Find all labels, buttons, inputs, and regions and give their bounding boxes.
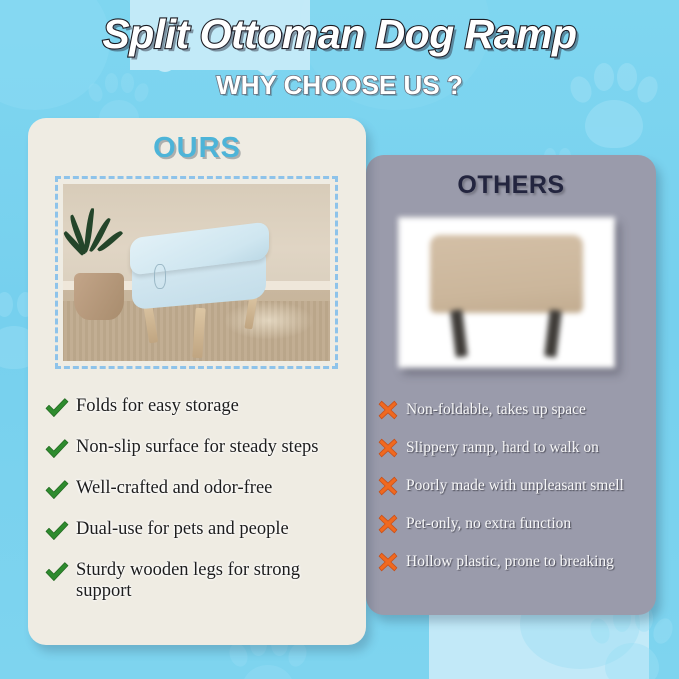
list-item: Poorly made with unpleasant smell <box>376 474 648 498</box>
list-item: Non-foldable, takes up space <box>376 398 648 422</box>
list-item: Non-slip surface for steady steps <box>44 437 352 461</box>
cross-icon <box>376 436 400 460</box>
infographic-canvas: Split Ottoman Dog Ramp WHY CHOOSE US ? O… <box>0 0 679 679</box>
list-item: Pet-only, no extra function <box>376 512 648 536</box>
list-item-label: Folds for easy storage <box>76 396 239 417</box>
list-item-label: Non-slip surface for steady steps <box>76 437 319 458</box>
cross-icon <box>376 474 400 498</box>
ours-photo-frame <box>55 176 338 369</box>
ours-panel: OURS <box>28 118 366 645</box>
list-item-label: Well-crafted and odor-free <box>76 478 272 499</box>
list-item-label: Non-foldable, takes up space <box>406 401 586 418</box>
check-icon <box>44 396 70 420</box>
list-item-label: Poorly made with unpleasant smell <box>406 477 624 494</box>
list-item-label: Dual-use for pets and people <box>76 519 289 540</box>
check-icon <box>44 437 70 461</box>
list-item: Sturdy wooden legs for strong support <box>44 560 352 603</box>
plant-pot <box>74 273 125 321</box>
check-icon <box>44 478 70 502</box>
cross-icon <box>376 398 400 422</box>
list-item: Dual-use for pets and people <box>44 519 352 543</box>
list-item-label: Slippery ramp, hard to walk on <box>406 439 599 456</box>
cross-icon <box>376 550 400 574</box>
page-subtitle: WHY CHOOSE US ? <box>0 70 679 101</box>
others-list: Non-foldable, takes up space Slippery ra… <box>366 398 656 588</box>
list-item-label: Sturdy wooden legs for strong support <box>76 560 352 603</box>
list-item: Slippery ramp, hard to walk on <box>376 436 648 460</box>
others-product-photo <box>398 217 615 368</box>
cross-icon <box>376 512 400 536</box>
list-item: Hollow plastic, prone to breaking <box>376 550 648 574</box>
page-title: Split Ottoman Dog Ramp <box>0 11 679 58</box>
plant-decoration <box>71 207 140 280</box>
check-icon <box>44 560 70 584</box>
ours-heading: OURS <box>28 132 366 165</box>
ours-list: Folds for easy storage Non-slip surface … <box>28 396 366 620</box>
zipper-pull <box>154 264 167 289</box>
ours-product-photo <box>63 184 330 361</box>
list-item: Folds for easy storage <box>44 396 352 420</box>
list-item-label: Hollow plastic, prone to breaking <box>406 553 614 570</box>
check-icon <box>44 519 70 543</box>
others-panel: OTHERS Non-foldable, takes up space <box>366 155 656 615</box>
list-item-label: Pet-only, no extra function <box>406 515 571 532</box>
others-heading: OTHERS <box>366 171 656 200</box>
list-item: Well-crafted and odor-free <box>44 478 352 502</box>
header: Split Ottoman Dog Ramp WHY CHOOSE US ? <box>0 0 679 112</box>
